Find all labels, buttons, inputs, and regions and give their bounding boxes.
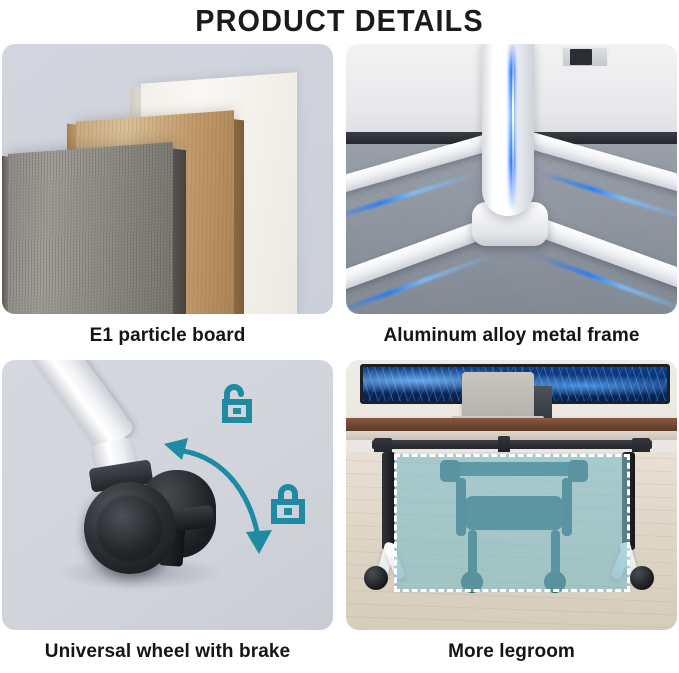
- desk-caster-right: [630, 566, 654, 590]
- gray-board: [8, 142, 173, 314]
- caption-universal-wheel-with-brake: Universal wheel with brake: [2, 632, 333, 672]
- detail-cell-more-legroom: More legroom: [346, 360, 677, 673]
- caption-more-legroom: More legroom: [346, 632, 677, 672]
- wall-vent: [561, 46, 609, 68]
- lock-icon: [270, 482, 306, 524]
- detail-cell-aluminum-alloy-metal-frame: Aluminum alloy metal frame: [346, 44, 677, 357]
- desk-underside: [346, 431, 677, 440]
- details-grid: E1 particle board: [0, 44, 679, 673]
- page-title: PRODUCT DETAILS: [24, 0, 655, 42]
- frame-center-column: [482, 44, 534, 216]
- detail-cell-e1-particle-board: E1 particle board: [2, 44, 333, 357]
- gray-board-face: [8, 142, 173, 314]
- desk-caster-left: [364, 566, 388, 590]
- product-details-page: PRODUCT DETAILS E1: [0, 0, 679, 673]
- panel-image-universal-wheel-with-brake: [2, 360, 333, 630]
- detail-cell-universal-wheel-with-brake: Universal wheel with brake: [2, 360, 333, 673]
- panel-image-e1-particle-board: [2, 44, 333, 314]
- desk-crossbar: [372, 440, 652, 449]
- unlock-icon: [216, 384, 252, 424]
- desk-top-surface: [346, 418, 677, 431]
- laptop: [462, 372, 534, 418]
- caption-aluminum-alloy-metal-frame: Aluminum alloy metal frame: [346, 316, 677, 356]
- panel-image-more-legroom: [346, 360, 677, 630]
- panel-image-aluminum-alloy-metal-frame: [346, 44, 677, 314]
- legroom-highlight-area: [394, 454, 630, 592]
- caption-e1-particle-board: E1 particle board: [2, 316, 333, 356]
- column-specular-highlight: [512, 46, 514, 202]
